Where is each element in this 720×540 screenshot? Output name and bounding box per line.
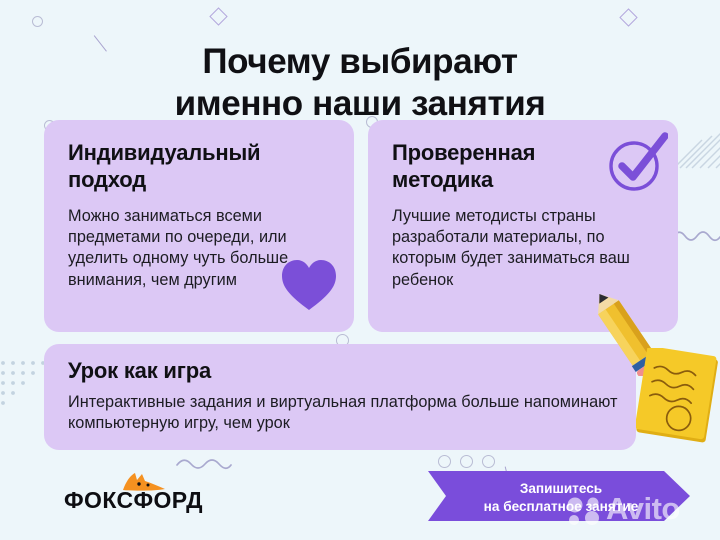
- page-title-line-1: Почему выбирают: [0, 41, 720, 82]
- brand-logo-text: ФОКСФОРД: [64, 487, 203, 514]
- sticky-note-illustration: [636, 348, 720, 446]
- circle-decoration: [482, 455, 495, 468]
- avito-watermark-text: Avito: [606, 491, 680, 527]
- diamond-decoration: [209, 7, 227, 25]
- card-title: Урок как игра: [68, 358, 211, 384]
- check-circle-icon: [606, 132, 668, 194]
- heart-icon: [280, 258, 338, 312]
- avito-watermark: Avito: [566, 488, 716, 534]
- circle-decoration: [32, 16, 43, 27]
- diamond-decoration: [619, 8, 637, 26]
- circle-decoration: [438, 455, 451, 468]
- card-title: Индивидуальный подход: [68, 140, 334, 194]
- wavy-line-decoration: [176, 456, 232, 472]
- dot-grid-decoration: [0, 360, 46, 420]
- card-title: Проверенная методика: [392, 140, 612, 194]
- card-body: Интерактивные задания и виртуальная плат…: [68, 392, 618, 435]
- feature-card-lesson-as-game[interactable]: Урок как игра Интерактивные задания и ви…: [44, 344, 636, 450]
- poster-canvas: Почему выбирают именно наши занятия Инди…: [0, 0, 720, 540]
- avito-dots-icon: [566, 496, 604, 526]
- page-title: Почему выбирают именно наши занятия: [0, 41, 720, 124]
- card-body: Лучшие методисты страны разработали мате…: [392, 206, 664, 291]
- circle-decoration: [460, 455, 473, 468]
- page-title-line-2: именно наши занятия: [0, 83, 720, 124]
- brand-logo[interactable]: ФОКСФОРД: [64, 481, 264, 523]
- feature-card-individual-approach[interactable]: Индивидуальный подход Можно заниматься в…: [44, 120, 354, 332]
- wavy-line-decoration: [672, 228, 720, 244]
